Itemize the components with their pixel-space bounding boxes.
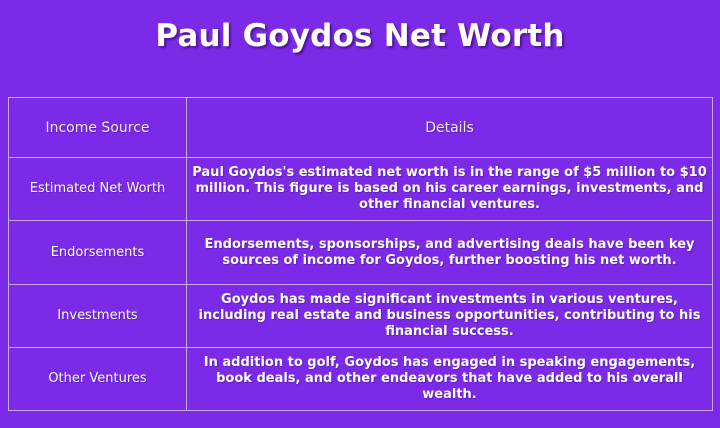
row-label-estimated-net-worth: Estimated Net Worth [9,158,187,221]
row-details-estimated-net-worth: Paul Goydos's estimated net worth is in … [187,158,713,221]
table-row: Other Ventures In addition to golf, Goyd… [9,348,713,411]
row-label-endorsements: Endorsements [9,221,187,285]
table-row: Investments Goydos has made significant … [9,285,713,348]
row-label-other-ventures: Other Ventures [9,348,187,411]
table-header-row: Income Source Details [9,98,713,158]
net-worth-table-container: Income Source Details Estimated Net Wort… [8,97,712,411]
table-row: Estimated Net Worth Paul Goydos's estima… [9,158,713,221]
row-details-investments: Goydos has made significant investments … [187,285,713,348]
net-worth-table: Income Source Details Estimated Net Wort… [8,97,713,411]
page-title: Paul Goydos Net Worth [0,18,720,54]
column-header-details: Details [187,98,713,158]
table-header: Income Source Details [9,98,713,158]
row-details-endorsements: Endorsements, sponsorships, and advertis… [187,221,713,285]
row-details-other-ventures: In addition to golf, Goydos has engaged … [187,348,713,411]
table-body: Estimated Net Worth Paul Goydos's estima… [9,158,713,411]
table-row: Endorsements Endorsements, sponsorships,… [9,221,713,285]
page-root: Paul Goydos Net Worth Income Source Deta… [0,0,720,428]
row-label-investments: Investments [9,285,187,348]
column-header-income-source: Income Source [9,98,187,158]
